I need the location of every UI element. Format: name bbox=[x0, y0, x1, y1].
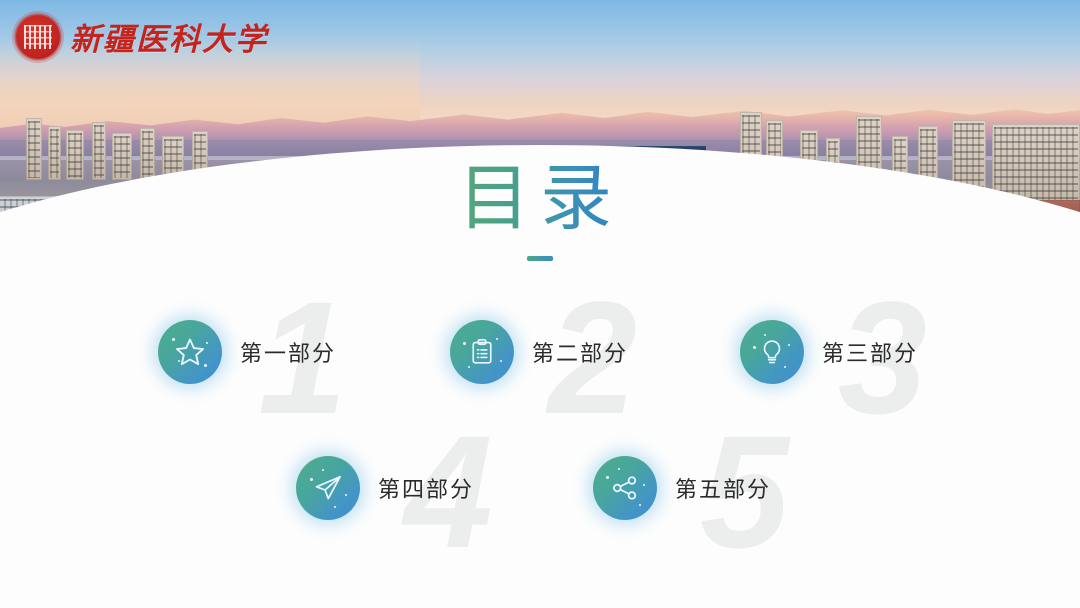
toc-item-5[interactable]: 第五部分 bbox=[593, 456, 771, 520]
paper-plane-icon bbox=[296, 456, 360, 520]
share-nodes-icon bbox=[593, 456, 657, 520]
toc-item-1-label: 第一部分 bbox=[240, 336, 336, 368]
toc-item-4[interactable]: 第四部分 bbox=[296, 456, 474, 520]
toc-item-1[interactable]: 第一部分 bbox=[158, 320, 336, 384]
star-icon bbox=[158, 320, 222, 384]
toc-item-2[interactable]: 第二部分 bbox=[450, 320, 628, 384]
title-block: 目录 bbox=[0, 162, 1080, 261]
presentation-slide: 新疆医科大学 目录 1 2 3 4 5 第一部分 bbox=[0, 0, 1080, 608]
toc-item-3[interactable]: 第三部分 bbox=[740, 320, 918, 384]
page-title: 目录 bbox=[458, 162, 622, 238]
lightbulb-icon bbox=[740, 320, 804, 384]
university-seal-icon bbox=[16, 15, 60, 59]
toc-item-3-label: 第三部分 bbox=[822, 336, 918, 368]
university-name: 新疆医科大学 bbox=[70, 14, 268, 59]
toc-item-5-label: 第五部分 bbox=[675, 472, 771, 504]
toc-item-2-label: 第二部分 bbox=[532, 336, 628, 368]
clipboard-icon bbox=[450, 320, 514, 384]
toc-item-4-label: 第四部分 bbox=[378, 472, 474, 504]
title-underline-rule bbox=[527, 256, 553, 261]
university-logo: 新疆医科大学 bbox=[16, 14, 268, 59]
